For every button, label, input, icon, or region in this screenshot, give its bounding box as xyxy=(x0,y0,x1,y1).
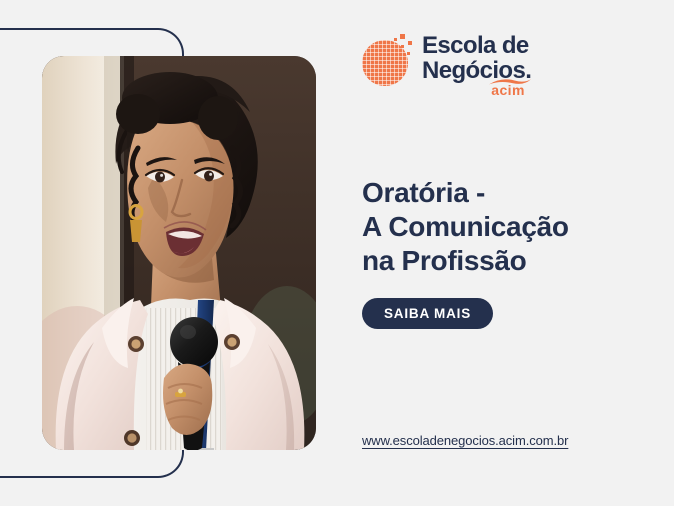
speaker-photo xyxy=(42,56,316,450)
speaker-photo-illustration xyxy=(42,56,316,450)
headline-line-2: A Comunicação xyxy=(362,210,662,244)
logo-square-5 xyxy=(407,52,410,55)
escola-de-negocios-circle-icon xyxy=(360,32,416,92)
saiba-mais-button[interactable]: SAIBA MAIS xyxy=(362,298,493,329)
brand-logo: Escola de Negócios. acim xyxy=(360,30,530,102)
acim-sub-brand: acim xyxy=(487,78,533,98)
logo-square-2 xyxy=(408,41,412,45)
logo-square-1 xyxy=(400,34,405,39)
headline: Oratória - A Comunicação na Profissão xyxy=(362,176,662,278)
headline-line-3: na Profissão xyxy=(362,244,662,278)
website-url-link[interactable]: www.escoladenegocios.acim.com.br xyxy=(362,433,568,448)
logo-square-3 xyxy=(401,45,404,48)
logo-square-4 xyxy=(394,38,397,41)
headline-line-1: Oratória - xyxy=(362,176,662,210)
content-column: Escola de Negócios. acim Oratória - A Co… xyxy=(360,0,674,506)
brand-logo-text: Escola de Negócios. acim xyxy=(422,30,531,83)
brand-name-line-1: Escola de xyxy=(422,33,531,58)
promo-banner: Escola de Negócios. acim Oratória - A Co… xyxy=(0,0,674,506)
acim-wordmark: acim xyxy=(491,83,525,98)
